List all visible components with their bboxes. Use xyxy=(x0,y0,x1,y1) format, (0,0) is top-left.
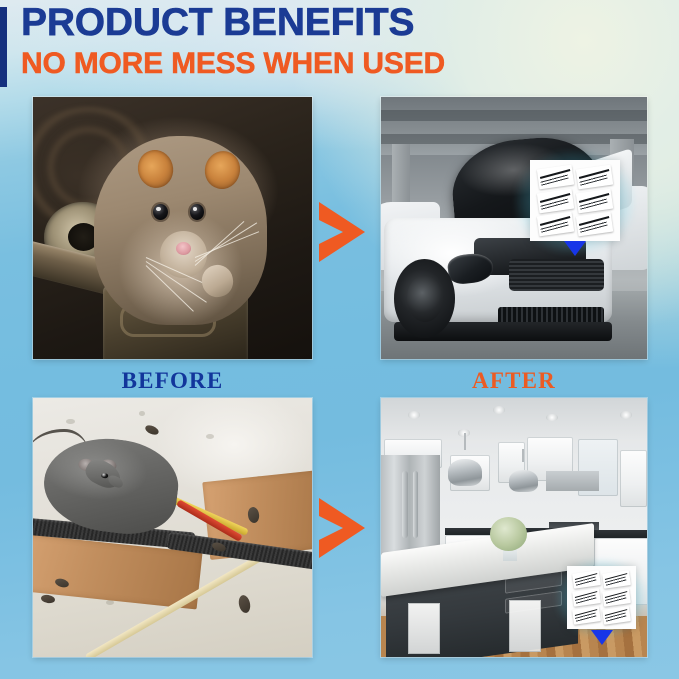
repellent-pouch xyxy=(576,212,613,236)
car-grille xyxy=(509,259,605,290)
open-shelf xyxy=(620,450,647,507)
repellent-pouch xyxy=(572,570,600,589)
pendant-dome xyxy=(448,459,483,486)
rodent-dropping xyxy=(238,594,253,614)
mouse-snout xyxy=(106,474,125,491)
page-title: PRODUCT BENEFITS xyxy=(21,2,414,44)
pouch-panel-background xyxy=(530,160,620,241)
refrigerator-handle xyxy=(413,471,418,538)
triangle-down-icon xyxy=(591,630,613,645)
insulation-speck xyxy=(106,600,114,605)
countertop xyxy=(594,530,647,538)
rat-paw xyxy=(199,262,236,300)
repellent-pouch xyxy=(572,588,600,607)
pendant-light xyxy=(509,460,538,494)
kitchen-scene xyxy=(381,398,647,657)
pouch-panel-background xyxy=(567,566,636,628)
recessed-light xyxy=(408,411,420,419)
flower-arrangement xyxy=(490,517,527,551)
accent-bar xyxy=(0,7,7,87)
repellent-pouch xyxy=(603,588,631,607)
recessed-light xyxy=(620,411,632,419)
repellent-pouch xyxy=(537,165,574,189)
caption-before: BEFORE xyxy=(33,368,312,394)
repellent-pouch-panel xyxy=(530,160,620,241)
rodent-dropping xyxy=(41,594,56,604)
refrigerator-handle xyxy=(402,471,407,538)
bar-stool xyxy=(408,603,440,655)
car-wheel xyxy=(394,259,455,338)
insulation-speck xyxy=(206,434,214,439)
rat-ear-right xyxy=(201,148,244,193)
repellent-pouch xyxy=(537,188,574,212)
after-image-clean-kitchen xyxy=(381,398,647,657)
insulation-speck xyxy=(66,419,74,424)
triangle-down-icon xyxy=(564,241,586,256)
after-image-sports-car xyxy=(381,97,647,359)
rat-body xyxy=(94,136,267,325)
pouch-grid xyxy=(538,167,612,234)
rat-ear-left xyxy=(133,145,177,191)
pendant-rod xyxy=(522,449,524,462)
pendant-rod xyxy=(464,433,466,450)
recessed-light xyxy=(546,414,558,422)
repellent-pouch-panel xyxy=(567,566,636,628)
kitchen-ceiling xyxy=(381,398,647,442)
range-hood xyxy=(546,471,599,492)
page-subtitle: NO MORE MESS WHEN USED xyxy=(21,47,445,81)
rat-engine-scene xyxy=(33,97,312,359)
ceiling-beam xyxy=(381,110,647,120)
pendant-light xyxy=(448,447,483,488)
repellent-pouch xyxy=(537,212,574,236)
recessed-light xyxy=(493,406,505,414)
chevron-right-icon xyxy=(313,196,375,268)
repellent-pouch xyxy=(572,606,600,625)
before-image-rat-on-engine xyxy=(33,97,312,359)
bar-stool xyxy=(509,600,541,652)
repellent-pouch xyxy=(603,606,631,625)
rat-eye-right xyxy=(190,204,205,220)
insulation-speck xyxy=(139,411,145,416)
pouch-grid xyxy=(573,572,630,623)
product-benefits-poster: PRODUCT BENEFITS NO MORE MESS WHEN USED xyxy=(0,0,679,679)
insulation-scene xyxy=(33,398,312,657)
before-image-mouse-chewing-wires xyxy=(33,398,312,657)
repellent-pouch xyxy=(576,188,613,212)
caption-after: AFTER xyxy=(381,368,647,394)
garage-scene xyxy=(381,97,647,359)
rodent-dropping xyxy=(144,424,160,437)
header: PRODUCT BENEFITS NO MORE MESS WHEN USED xyxy=(0,0,679,92)
repellent-pouch xyxy=(576,165,613,189)
rat-eye-left xyxy=(153,204,168,220)
pendant-dome xyxy=(509,470,538,492)
chevron-right-icon xyxy=(313,492,375,564)
repellent-pouch xyxy=(603,570,631,589)
